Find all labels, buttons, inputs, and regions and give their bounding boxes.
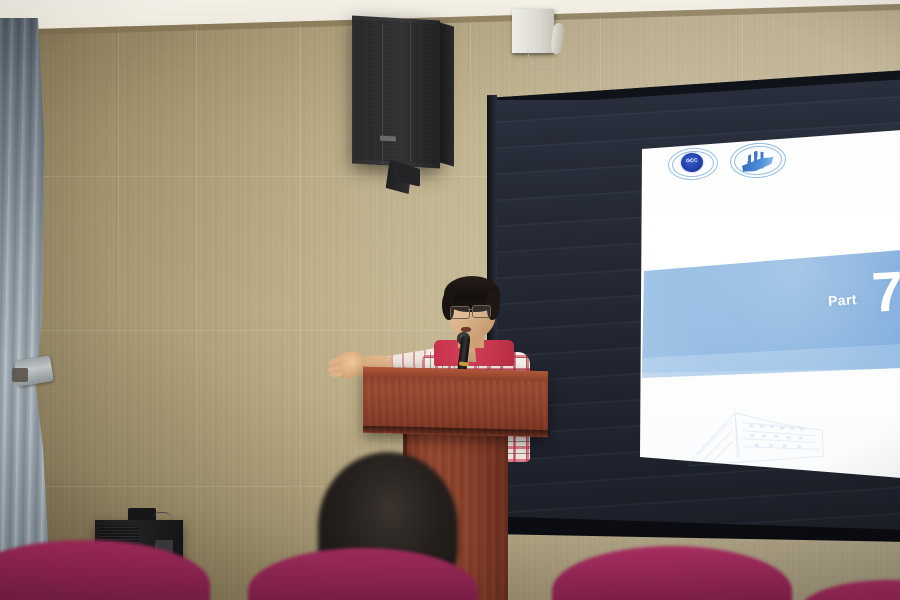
curtain-clip	[12, 368, 28, 382]
pa-speaker-badge	[380, 136, 396, 142]
pa-speaker	[352, 8, 462, 190]
eyeglasses-left-lens-icon	[450, 306, 470, 319]
gcc-emblem-initials: GCC	[683, 156, 702, 165]
eyeglasses-bridge	[468, 309, 473, 310]
slide-part-number: 7	[870, 265, 900, 319]
slide-building-watermark	[678, 390, 832, 470]
slide-part-label: Part	[828, 291, 858, 309]
presenter-hand	[332, 349, 367, 381]
wall-control-box	[512, 9, 554, 53]
pa-speaker-grille	[355, 20, 437, 165]
eyeglasses-right-lens-icon	[472, 305, 491, 318]
photo-scene: GCC Part 7	[0, 0, 900, 600]
